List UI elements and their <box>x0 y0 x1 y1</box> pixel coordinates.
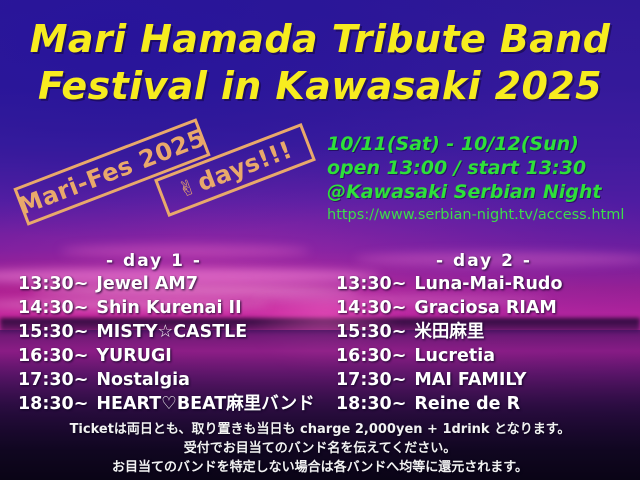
title-line-2: Festival in Kawasaki 2025 <box>0 63 640 110</box>
slot-act: Luna-Mai-Rudo <box>414 274 562 294</box>
list-item: 13:30~Luna-Mai-Rudo <box>336 272 640 296</box>
slot-time: 18:30~ <box>336 394 406 414</box>
day-2-heading: - day 2 - <box>336 250 640 272</box>
list-item: 16:30~Lucretia <box>336 344 640 368</box>
list-item: 16:30~YURUGI <box>18 344 320 368</box>
day-1-heading: - day 1 - <box>18 250 320 272</box>
slot-time: 14:30~ <box>18 298 88 318</box>
slot-time: 15:30~ <box>18 322 88 342</box>
slot-time: 14:30~ <box>336 298 406 318</box>
lineup-day-1: - day 1 - 13:30~Jewel AM7 14:30~Shin Kur… <box>0 250 320 416</box>
list-item: 13:30~Jewel AM7 <box>18 272 320 296</box>
slot-time: 16:30~ <box>18 346 88 366</box>
slot-time: 17:30~ <box>18 370 88 390</box>
slot-act: Nostalgia <box>96 370 190 390</box>
ticket-note-line-1: Ticketは両日とも、取り置きも当日も charge 2,000yen + 1… <box>0 420 640 439</box>
ticket-note-line-3: お目当てのバンドを特定しない場合は各バンドへ均等に還元されます。 <box>0 458 640 477</box>
slot-act: Shin Kurenai II <box>96 298 241 318</box>
slot-time: 18:30~ <box>18 394 88 414</box>
slot-act: 米田麻里 <box>414 322 484 342</box>
slot-time: 16:30~ <box>336 346 406 366</box>
event-times: open 13:00 / start 13:30 <box>327 156 624 180</box>
lineup-columns: - day 1 - 13:30~Jewel AM7 14:30~Shin Kur… <box>0 250 640 416</box>
ticket-note-line-2: 受付でお目当てのバンド名を伝えてください。 <box>0 439 640 458</box>
slot-act: Reine de R <box>414 394 520 414</box>
list-item: 17:30~MAI FAMILY <box>336 368 640 392</box>
slot-time: 15:30~ <box>336 322 406 342</box>
lineup-day-2: - day 2 - 13:30~Luna-Mai-Rudo 14:30~Grac… <box>320 250 640 416</box>
venue-access-link[interactable]: https://www.serbian-night.tv/access.html <box>327 205 624 226</box>
slot-act: Lucretia <box>414 346 495 366</box>
slot-act: Jewel AM7 <box>96 274 198 294</box>
list-item: 15:30~米田麻里 <box>336 320 640 344</box>
slot-time: 13:30~ <box>336 274 406 294</box>
event-poster: Mari Hamada Tribute Band Festival in Kaw… <box>0 0 640 480</box>
event-venue: @Kawasaki Serbian Night <box>327 180 624 204</box>
list-item: 14:30~Graciosa RIAM <box>336 296 640 320</box>
slot-act: MISTY☆CASTLE <box>96 322 247 342</box>
poster-title: Mari Hamada Tribute Band Festival in Kaw… <box>0 16 640 110</box>
list-item: 15:30~MISTY☆CASTLE <box>18 320 320 344</box>
list-item: 17:30~Nostalgia <box>18 368 320 392</box>
event-dates: 10/11(Sat) - 10/12(Sun) <box>327 132 624 156</box>
slot-act: MAI FAMILY <box>414 370 526 390</box>
list-item: 18:30~HEART♡BEAT麻里バンド <box>18 392 320 416</box>
list-item: 18:30~Reine de R <box>336 392 640 416</box>
slot-act: HEART♡BEAT麻里バンド <box>96 394 314 414</box>
slot-time: 17:30~ <box>336 370 406 390</box>
slot-act: YURUGI <box>96 346 171 366</box>
ticket-notes: Ticketは両日とも、取り置きも当日も charge 2,000yen + 1… <box>0 420 640 477</box>
slot-act: Graciosa RIAM <box>414 298 556 318</box>
title-line-1: Mari Hamada Tribute Band <box>0 16 640 63</box>
slot-time: 13:30~ <box>18 274 88 294</box>
list-item: 14:30~Shin Kurenai II <box>18 296 320 320</box>
event-info: 10/11(Sat) - 10/12(Sun) open 13:00 / sta… <box>327 132 624 226</box>
